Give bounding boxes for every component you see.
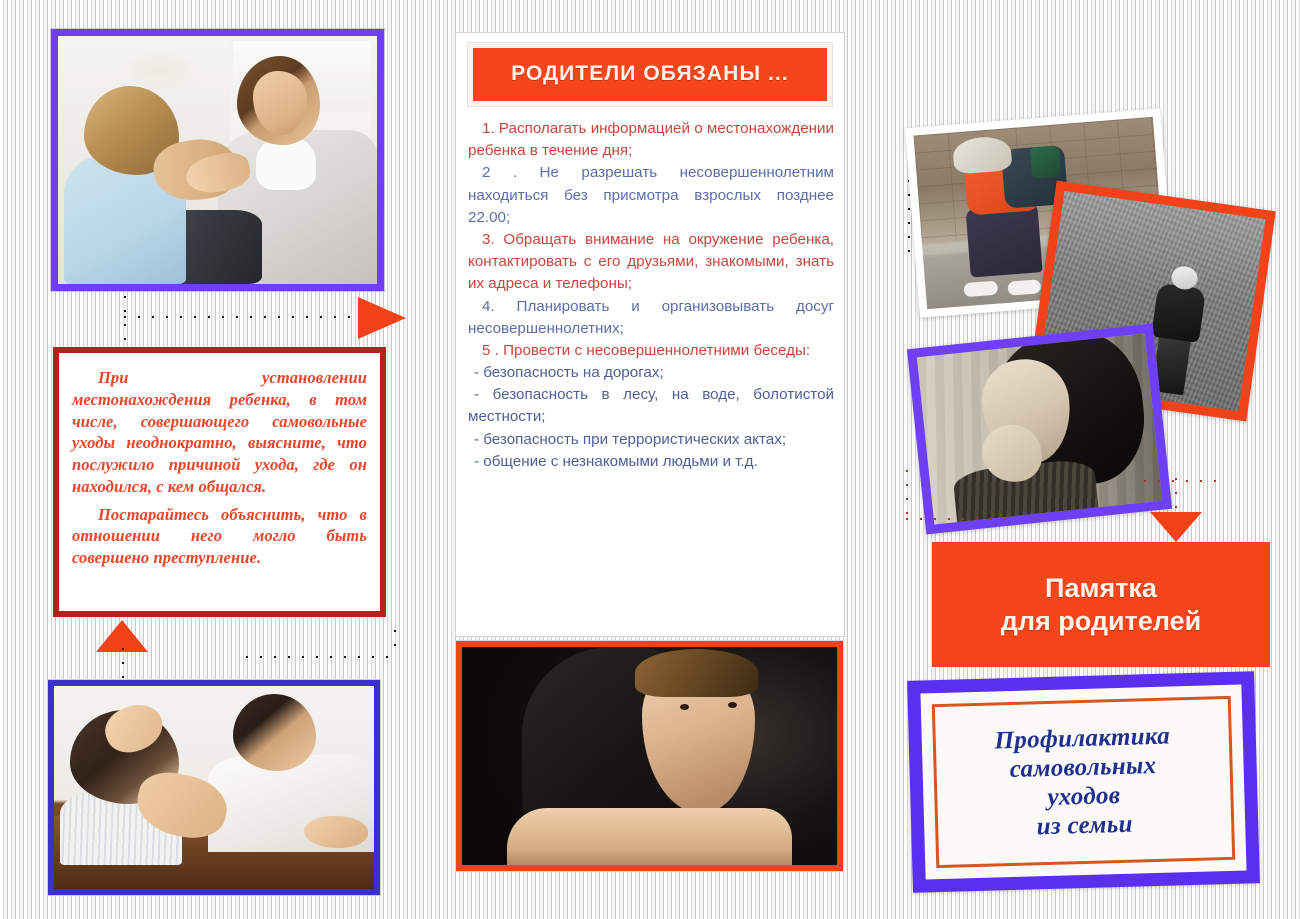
- connector-line-horizontal: [906, 518, 1010, 520]
- duty-item-4: 4. Планировать и организовывать досуг не…: [468, 296, 834, 340]
- connector-line-vertical: [124, 296, 126, 348]
- connector-line-vertical: [394, 630, 396, 658]
- title-card-line-2: самовольных: [995, 751, 1171, 785]
- connector-line-horizontal: [246, 656, 394, 658]
- title-card-inner-orange-border: Профилактика самовольных уходов из семьи: [932, 696, 1235, 868]
- duty-item-2: 2 . Не разрешать несовершеннолетним нахо…: [468, 162, 834, 229]
- title-card: Профилактика самовольных уходов из семьи: [907, 671, 1260, 893]
- duty-subitem-2: - безопасность в лесу, на воде, болотист…: [468, 384, 834, 428]
- duties-title: РОДИТЕЛИ ОБЯЗАНЫ ...: [468, 43, 832, 106]
- quote-paragraph-2: Постарайтесь объяснить, что в отношении …: [72, 504, 367, 569]
- duty-item-1: 1. Располагать информацией о местонахожд…: [468, 118, 834, 162]
- duty-item-5: 5 . Провести с несовершеннолетними бесед…: [468, 340, 834, 362]
- arrow-down-icon: [1150, 512, 1202, 542]
- title-card-inner-white: Профилактика самовольных уходов из семьи: [920, 685, 1246, 880]
- arrow-right-icon: [358, 297, 406, 339]
- connector-line-horizontal: [124, 316, 360, 318]
- connector-line-vertical: [906, 470, 908, 518]
- memo-line-2: для родителей: [1001, 605, 1202, 638]
- photo-worried-woman: [907, 324, 1172, 535]
- duty-subitem-1: - безопасность на дорогах;: [468, 362, 834, 384]
- connector-line-vertical: [1175, 478, 1177, 514]
- title-card-line-4: из семьи: [997, 809, 1173, 843]
- duty-subitem-4: - общение с незнакомыми людьми и т.д.: [468, 451, 834, 473]
- photo-teenager-in-hoodie: [456, 641, 843, 871]
- leaflet-page: При установлении местонахождения ребенка…: [0, 0, 1300, 919]
- quote-paragraph-1: При установлении местонахождения ребенка…: [72, 367, 367, 498]
- title-card-text: Профилактика самовольных уходов из семьи: [994, 722, 1173, 843]
- connector-line-horizontal: [1144, 480, 1228, 482]
- memo-line-1: Памятка: [1045, 572, 1157, 605]
- duties-panel: РОДИТЕЛИ ОБЯЗАНЫ ... 1. Располагать инфо…: [455, 32, 845, 637]
- memo-heading: Памятка для родителей: [932, 542, 1270, 667]
- duties-list: 1. Располагать информацией о местонахожд…: [456, 106, 844, 481]
- quote-box: При установлении местонахождения ребенка…: [53, 347, 386, 617]
- duty-subitem-3: - безопасность при террористических акта…: [468, 429, 834, 451]
- photo-mother-and-son-talking: [51, 29, 384, 291]
- duty-item-3: 3. Обращать внимание на окружение ребенк…: [468, 229, 834, 296]
- photo-father-comforting-son: [48, 680, 380, 895]
- connector-line-vertical: [122, 648, 124, 678]
